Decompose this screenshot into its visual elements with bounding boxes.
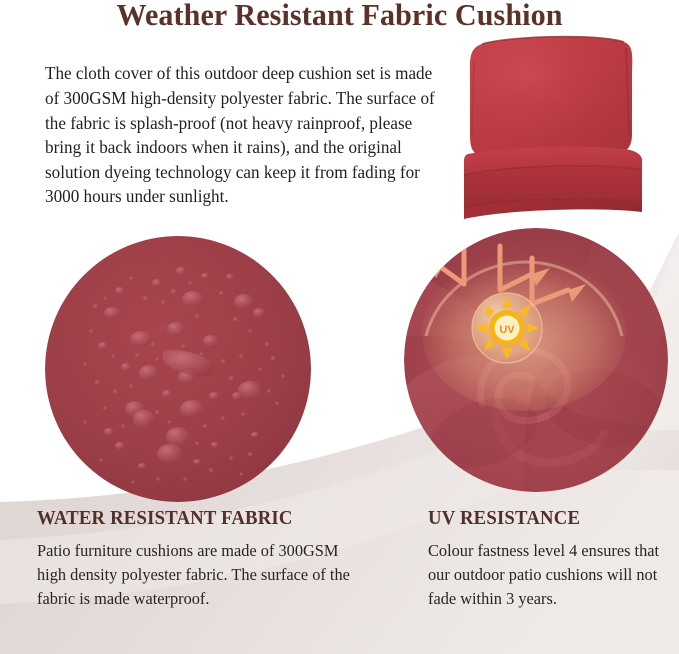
feature-heading-uv: UV RESISTANCE xyxy=(428,508,658,530)
cushion-illustration xyxy=(452,30,657,222)
uv-badge-label: UV xyxy=(499,324,515,336)
back-pillow-highlight xyxy=(470,37,632,162)
feature-body-water: Patio furniture cushions are made of 300… xyxy=(37,539,362,611)
infographic-page: Weather Resistant Fabric Cushion The clo… xyxy=(0,0,679,654)
uv-resistance-photo: UV xyxy=(404,228,668,492)
water-resistant-photo xyxy=(45,236,311,502)
feature-body-uv: Colour fastness level 4 ensures that our… xyxy=(428,539,664,611)
uv-fabric-illustration: UV xyxy=(404,228,668,492)
page-title: Weather Resistant Fabric Cushion xyxy=(10,0,669,32)
feature-water-resistant: WATER RESISTANT FABRIC Patio furniture c… xyxy=(37,508,367,611)
water-droplets-illustration xyxy=(45,236,311,502)
product-cushion-image xyxy=(452,30,657,222)
feature-heading-water: WATER RESISTANT FABRIC xyxy=(37,508,354,530)
sun-icon: UV xyxy=(475,296,539,360)
intro-paragraph: The cloth cover of this outdoor deep cus… xyxy=(45,61,444,209)
feature-uv-resistance: UV RESISTANCE Colour fastness level 4 en… xyxy=(428,508,668,611)
